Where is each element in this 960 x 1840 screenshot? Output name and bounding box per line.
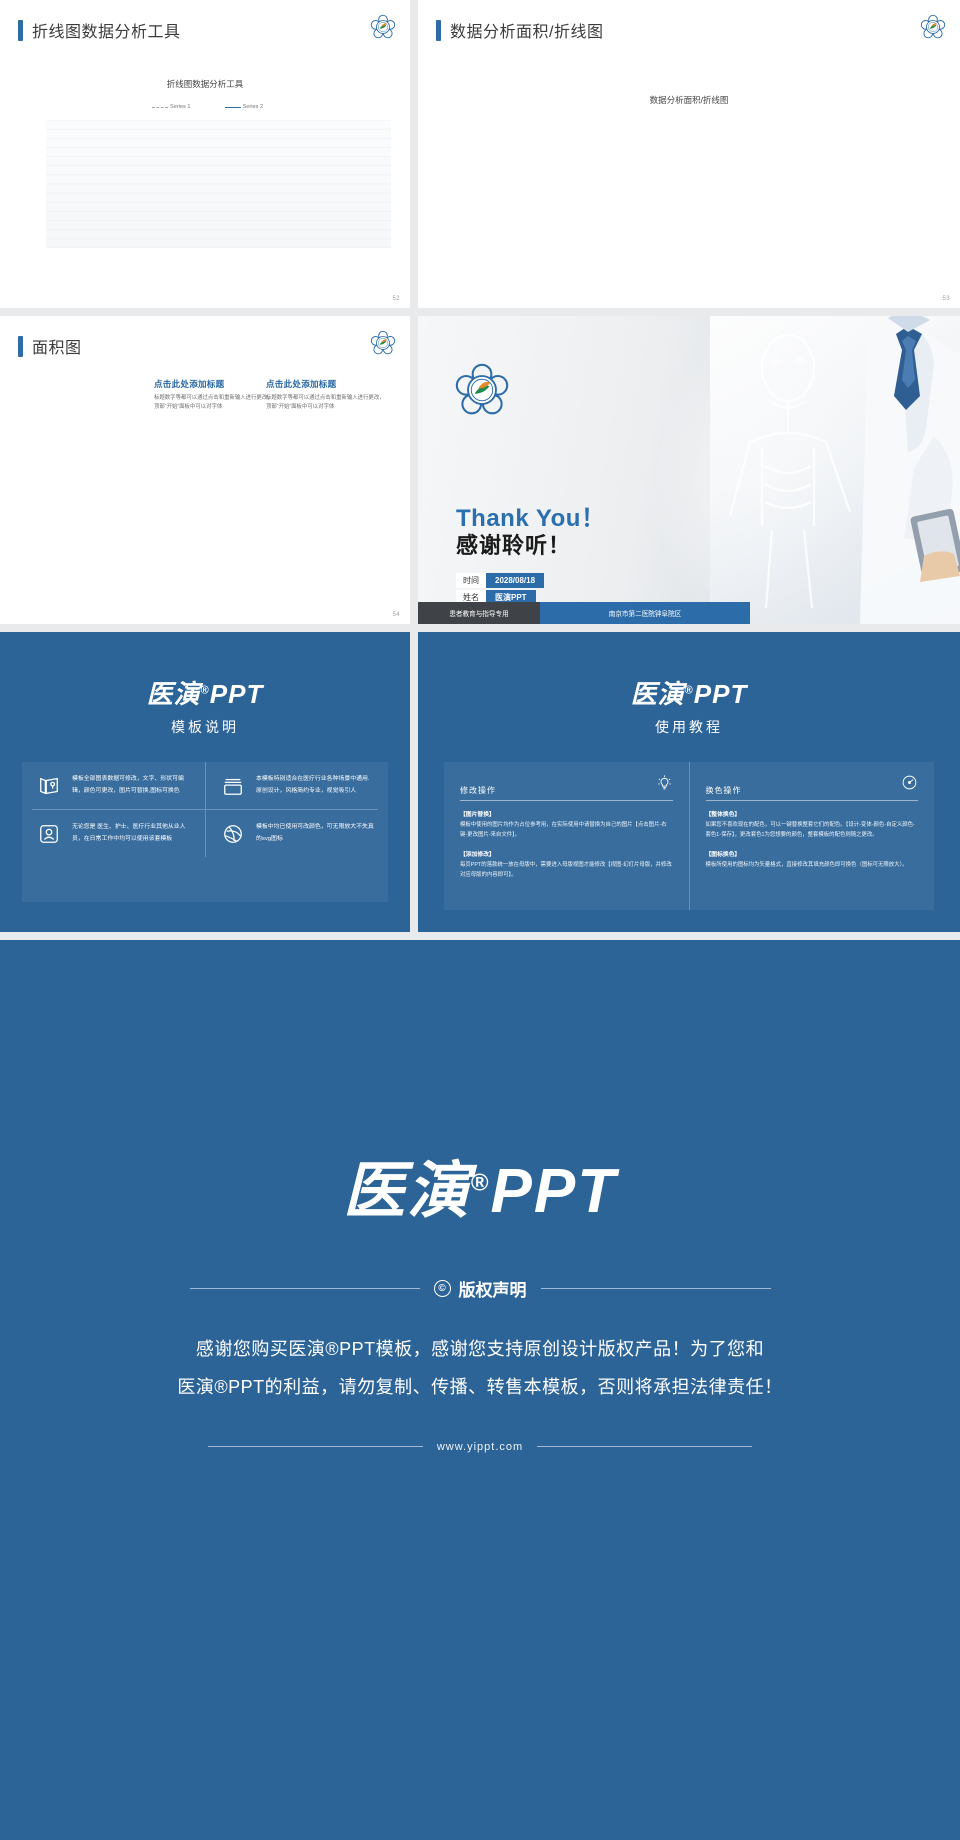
info-card-1-text: 模板全部图表数据可修改，文字、形状可编辑，颜色可更改，图片可替换,图标可换色 bbox=[72, 774, 191, 797]
hospital-logo-icon bbox=[920, 14, 946, 40]
tutorial-column-2: 换色操作 【整体换色】 如果您不喜欢现在的配色，可以一键替换整套它们的配色。【设… bbox=[690, 762, 935, 910]
copyright-badge-row: © 版权声明 bbox=[0, 1276, 960, 1301]
legend-swatch-series1 bbox=[152, 107, 168, 108]
text-block-1-title: 点击此处添加标题 bbox=[154, 378, 274, 390]
hospital-logo-icon bbox=[370, 330, 396, 356]
thankyou-chinese: 感谢聆听！ bbox=[456, 528, 571, 560]
slide-template-info[interactable]: 医演®PPT 模板说明 模板全部图表数据可修改，文字、形状可编辑，颜色可更改，图… bbox=[0, 632, 410, 932]
legend-swatch-series2 bbox=[225, 107, 241, 108]
template-info-panel: 模板全部图表数据可修改，文字、形状可编辑，颜色可更改，图片可替换,图标可换色 本… bbox=[22, 762, 388, 902]
text-block-2: 点击此处添加标题 标题数字等都可以通过点击和重新输入进行更改，顶部“开始”面板中… bbox=[266, 378, 386, 413]
legend-item-series2: Series 2 bbox=[225, 104, 264, 110]
website-url[interactable]: www.yippt.com bbox=[437, 1441, 523, 1453]
slide3-header: 面积图 bbox=[18, 334, 82, 358]
tutorial-col2-sec2-body: 模板所使用的图标均为矢量格式，直接修改其填充颜色即可换色（图标可无限放大）。 bbox=[706, 860, 919, 870]
copyright-symbol-icon: © bbox=[434, 1280, 451, 1297]
copyright-badge-label: 版权声明 bbox=[459, 1276, 527, 1301]
tutorial-subtitle: 使用教程 bbox=[418, 717, 960, 737]
brand-reg: ® bbox=[201, 684, 210, 696]
footer-spacer bbox=[750, 602, 960, 624]
bulb-icon bbox=[656, 774, 673, 796]
tutorial-col1-sec2-title: 【添加修改】 bbox=[460, 849, 673, 858]
brand-logo-text: 医演®PPT bbox=[0, 674, 410, 711]
slide2-plot-area bbox=[454, 116, 904, 251]
date-field-row: 时间 2028/08/18 bbox=[456, 573, 544, 588]
footer-right-label: 南京市第二医院钟阜院区 bbox=[540, 602, 750, 624]
thankyou-footer: 患者教育与指导专用 南京市第二医院钟阜院区 bbox=[418, 602, 960, 624]
tutorial-col2-title: 换色操作 bbox=[706, 785, 742, 796]
text-block-2-body: 标题数字等都可以通过点击和重新输入进行更改，顶部“开始”面板中可以对字体 bbox=[266, 394, 386, 413]
slide-area-line-chart[interactable]: 数据分析面积/折线图 数据分析面积/折线图 bbox=[418, 0, 960, 308]
tutorial-col2-sec2-title: 【图标换色】 bbox=[706, 849, 919, 858]
layers-icon bbox=[220, 774, 246, 797]
brand-cn: 医演 bbox=[631, 679, 685, 709]
slide2-number: 53 bbox=[943, 296, 950, 302]
copyright-url-row: www.yippt.com bbox=[0, 1441, 960, 1453]
tutorial-col2-sec1-body: 如果您不喜欢现在的配色，可以一键替换整套它们的配色。【设计-变体-颜色-自定义颜… bbox=[706, 820, 919, 841]
slide2-chart-caption: 数据分析面积/折线图 bbox=[418, 94, 960, 106]
tutorial-col2-sec1-title: 【整体换色】 bbox=[706, 809, 919, 818]
slide3-plot-area bbox=[24, 434, 384, 581]
template-info-subtitle: 模板说明 bbox=[0, 717, 410, 737]
info-card-4: 模板中均已使用可改颜色，可无限放大不失真的svg图标 bbox=[205, 810, 388, 857]
tutorial-col1-sec1-title: 【图片替换】 bbox=[460, 809, 673, 818]
template-info-row-2: 无论您是 医生、护士、医疗行业其他从业人员，在日常工作中均可以使用该套模板 模板… bbox=[22, 810, 388, 857]
slide-tutorial[interactable]: 医演®PPT 使用教程 修改操作 【图片替换】 模板中使用的图片均作为占位参考用… bbox=[418, 632, 960, 932]
divider-left bbox=[190, 1288, 420, 1289]
tutorial-col2-header: 换色操作 bbox=[706, 774, 919, 801]
info-card-3: 无论您是 医生、护士、医疗行业其他从业人员，在日常工作中均可以使用该套模板 bbox=[22, 810, 205, 857]
footer-left-label: 患者教育与指导专用 bbox=[418, 602, 540, 624]
brand-reg: ® bbox=[685, 684, 694, 696]
slide1-legend: Series 1 Series 2 bbox=[152, 104, 263, 110]
tutorial-col1-sec2-body: 每页PPT的落款统一放在母版中，需要进入母版视图才能修改【视图-幻灯片母版，并修… bbox=[460, 860, 673, 881]
presentation-thumbnail-page: 折线图数据分析工具 折线图数据分析工具 Series 1 bbox=[0, 0, 960, 1840]
slide3-area-svg bbox=[24, 434, 384, 576]
brand-ppt: PPT bbox=[210, 679, 264, 709]
copyright-line-1: 感谢您购买医演®PPT模板，感谢您支持原创设计版权产品！为了您和 bbox=[0, 1331, 960, 1369]
hospital-logo-icon bbox=[370, 14, 396, 40]
tutorial-col1-title: 修改操作 bbox=[460, 785, 496, 796]
tutorial-panel: 修改操作 【图片替换】 模板中使用的图片均作为占位参考用，在实际使用中请替换为自… bbox=[444, 762, 934, 910]
tutorial-col1-header: 修改操作 bbox=[460, 774, 673, 801]
copyright-statement: 感谢您购买医演®PPT模板，感谢您支持原创设计版权产品！为了您和 医演®PPT的… bbox=[0, 1331, 960, 1407]
info-card-1: 模板全部图表数据可修改，文字、形状可编辑，颜色可更改，图片可替换,图标可换色 bbox=[22, 762, 205, 809]
doctor-photo bbox=[710, 316, 960, 624]
slide1-number: 52 bbox=[393, 296, 400, 302]
slide1-title: 折线图数据分析工具 bbox=[32, 18, 181, 42]
text-block-1-body: 标题数字等都可以通过点击和重新输入进行更改，顶部“开始”面板中可以对字体 bbox=[154, 394, 274, 413]
user-icon bbox=[36, 822, 62, 845]
date-field-label: 时间 bbox=[456, 573, 486, 588]
template-info-row-1: 模板全部图表数据可修改，文字、形状可编辑，颜色可更改，图片可替换,图标可换色 本… bbox=[22, 762, 388, 809]
brand-cn: 医演 bbox=[147, 679, 201, 709]
url-divider-right bbox=[537, 1446, 752, 1447]
title-accent-bar bbox=[436, 20, 441, 41]
slide2-title: 数据分析面积/折线图 bbox=[450, 18, 603, 42]
slide1-line-svg bbox=[46, 120, 391, 248]
info-card-2: 本模板特别适合在医疗行业各种场景中通用. 原创设计，风格简约专业，视觉吸引人 bbox=[205, 762, 388, 809]
copyright-brand-block: 医演®PPT bbox=[0, 940, 960, 1230]
book-icon bbox=[36, 774, 62, 797]
url-divider-left bbox=[208, 1446, 423, 1447]
legend-label-series2: Series 2 bbox=[243, 104, 264, 110]
legend-label-series1: Series 1 bbox=[170, 104, 191, 110]
title-accent-bar bbox=[18, 20, 23, 41]
tutorial-col1-sec1-body: 模板中使用的图片均作为占位参考用，在实际使用中请替换为自己的图片【点击图片-右键… bbox=[460, 820, 673, 841]
slide3-number: 54 bbox=[393, 612, 400, 618]
slide1-plot-area bbox=[46, 120, 391, 248]
legend-item-series1: Series 1 bbox=[152, 104, 191, 110]
info-card-3-text: 无论您是 医生、护士、医疗行业其他从业人员，在日常工作中均可以使用该套模板 bbox=[72, 822, 191, 845]
brand-cn: 医演 bbox=[343, 1157, 471, 1226]
tutorial-column-1: 修改操作 【图片替换】 模板中使用的图片均作为占位参考用，在实际使用中请替换为自… bbox=[444, 762, 689, 910]
slide2-area-svg bbox=[454, 116, 904, 246]
template-info-brand-block: 医演®PPT 模板说明 bbox=[0, 632, 410, 737]
hospital-logo-large-icon bbox=[454, 362, 510, 418]
slide1-chart-caption: 折线图数据分析工具 bbox=[0, 78, 410, 90]
slide-thank-you[interactable]: Thank You！ 感谢聆听！ 时间 2028/08/18 姓名 医演PPT … bbox=[418, 316, 960, 624]
brand-ppt: PPT bbox=[491, 1157, 618, 1226]
slide2-header: 数据分析面积/折线图 bbox=[436, 18, 603, 42]
brand-reg: ® bbox=[471, 1169, 491, 1196]
slide-stacked-area-chart[interactable]: 面积图 点击此处添加标题 标题数字等都可以通过点击和重新输入进行更改，顶部“开始… bbox=[0, 316, 410, 624]
slide1-header: 折线图数据分析工具 bbox=[18, 18, 181, 42]
info-card-2-text: 本模板特别适合在医疗行业各种场景中通用. 原创设计，风格简约专业，视觉吸引人 bbox=[256, 774, 374, 797]
brand-logo-large-text: 医演®PPT bbox=[0, 1140, 960, 1230]
info-card-4-text: 模板中均已使用可改颜色，可无限放大不失真的svg图标 bbox=[256, 822, 374, 845]
brand-logo-text: 医演®PPT bbox=[418, 674, 960, 711]
slide3-title: 面积图 bbox=[32, 334, 82, 358]
copyright-line-2: 医演®PPT的利益，请勿复制、传播、转售本模板，否则将承担法律责任！ bbox=[0, 1369, 960, 1407]
copyright-badge: © 版权声明 bbox=[434, 1276, 527, 1301]
doctor-illustration-icon bbox=[710, 316, 960, 624]
slide-copyright[interactable]: 医演®PPT © 版权声明 感谢您购买医演®PPT模板，感谢您支持原创设计版权产… bbox=[0, 940, 960, 1840]
brand-ppt: PPT bbox=[694, 679, 748, 709]
date-field-value: 2028/08/18 bbox=[486, 573, 544, 588]
divider-right bbox=[541, 1288, 771, 1289]
palette-icon bbox=[901, 774, 918, 796]
title-accent-bar bbox=[18, 336, 23, 357]
text-block-2-title: 点击此处添加标题 bbox=[266, 378, 386, 390]
slide-line-chart[interactable]: 折线图数据分析工具 折线图数据分析工具 Series 1 bbox=[0, 0, 410, 308]
dots-icon bbox=[220, 822, 246, 845]
text-block-1: 点击此处添加标题 标题数字等都可以通过点击和重新输入进行更改，顶部“开始”面板中… bbox=[154, 378, 274, 413]
tutorial-brand-block: 医演®PPT 使用教程 bbox=[418, 632, 960, 737]
